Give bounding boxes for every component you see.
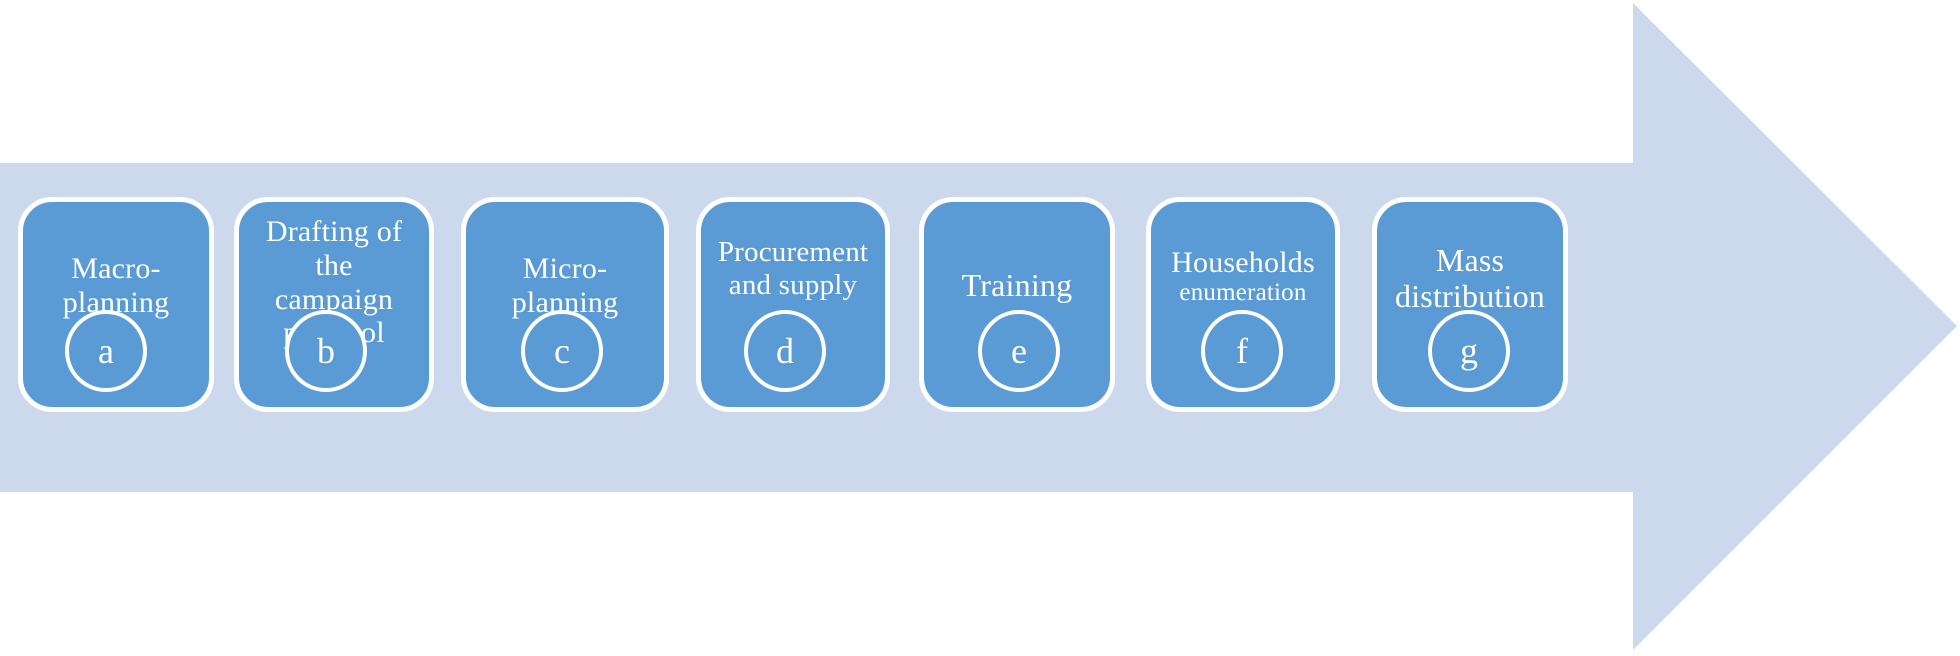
step-badge-letter: f [1236, 333, 1248, 369]
step-label-line: Mass [1385, 243, 1555, 279]
step-badge-c[interactable]: c [521, 310, 603, 392]
step-badge-letter: g [1460, 333, 1478, 369]
steps-layer: Macro- planning Drafting of the campaign… [0, 0, 1960, 656]
step-label-d: Procurement and supply [709, 236, 877, 301]
step-badge-e[interactable]: e [978, 310, 1060, 392]
step-label-line: Procurement [709, 236, 877, 268]
step-label-e: Training [932, 268, 1102, 304]
step-label-line: enumeration [1159, 279, 1327, 307]
step-badge-d[interactable]: d [744, 310, 826, 392]
step-badge-letter: d [776, 333, 794, 369]
step-label-line: and supply [709, 269, 877, 301]
step-label-a: Macro- planning [31, 252, 201, 319]
step-label-line: distribution [1385, 279, 1555, 315]
step-badge-letter: e [1011, 333, 1027, 369]
step-label-c: Micro- planning [474, 252, 656, 319]
step-label-g: Mass distribution [1385, 243, 1555, 315]
process-flow-diagram: Macro- planning Drafting of the campaign… [0, 0, 1960, 656]
step-label-line: the [247, 249, 421, 283]
step-badge-letter: b [317, 333, 335, 369]
step-label-line: Macro- [31, 252, 201, 286]
step-badge-a[interactable]: a [65, 310, 147, 392]
step-label-f: Households enumeration [1159, 246, 1327, 308]
step-label-line: Households [1159, 246, 1327, 280]
step-badge-f[interactable]: f [1201, 310, 1283, 392]
step-label-line: Micro- [474, 252, 656, 286]
step-label-line: Drafting of [247, 215, 421, 249]
step-badge-g[interactable]: g [1428, 310, 1510, 392]
step-badge-letter: a [98, 333, 114, 369]
step-badge-letter: c [554, 333, 570, 369]
step-badge-b[interactable]: b [285, 310, 367, 392]
step-label-line: Training [932, 268, 1102, 304]
